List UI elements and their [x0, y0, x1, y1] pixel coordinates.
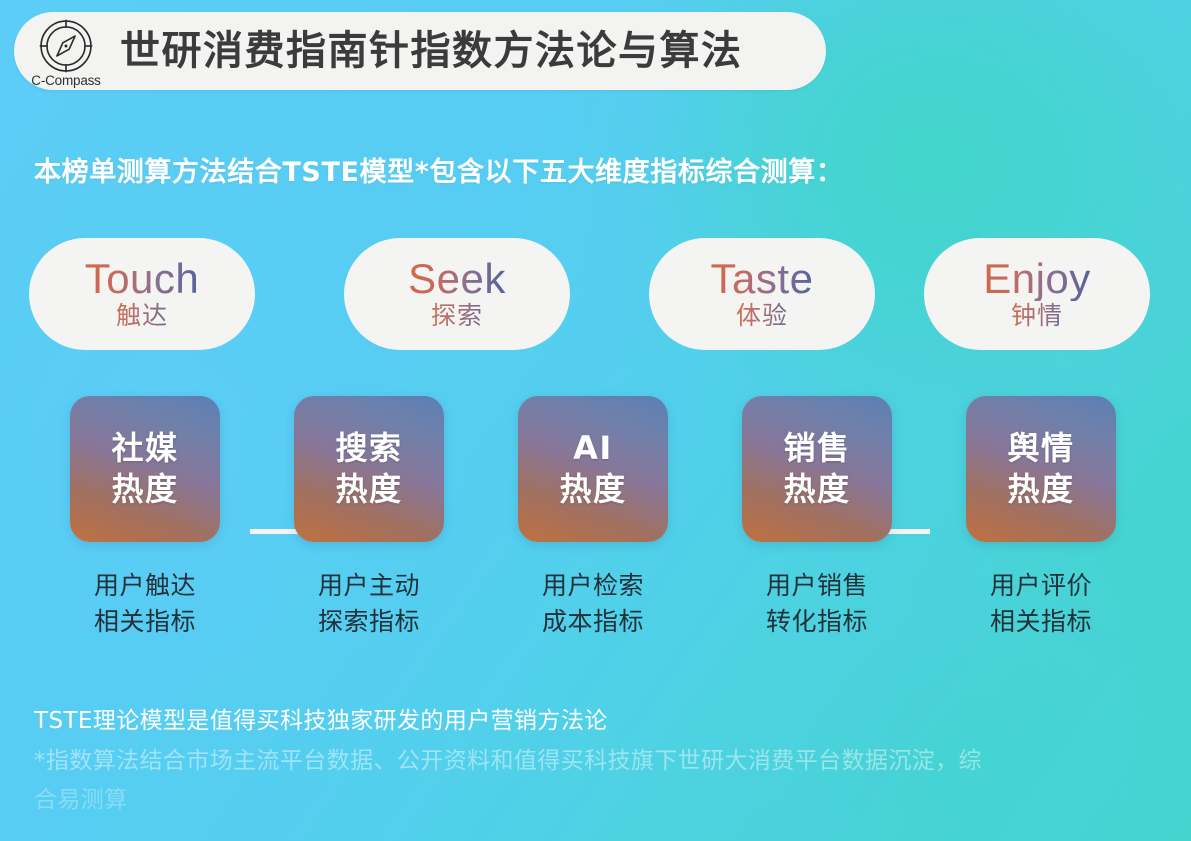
infographic-stage: C-Compass 世研消费指南针指数方法论与算法 本榜单测算方法结合TSTE模…	[0, 0, 1191, 841]
caption-line2: 转化指标	[722, 604, 912, 640]
page-title: 世研消费指南针指数方法论与算法	[120, 31, 743, 71]
caption-line1: 用户评价	[946, 568, 1136, 604]
caption-line2: 探索指标	[274, 604, 464, 640]
brand-logo-label: C-Compass	[31, 73, 100, 88]
tste-pill-en: Taste	[711, 258, 814, 301]
tste-pill-en: Enjoy	[983, 258, 1091, 301]
footnote-line-3: 合易测算	[34, 781, 1174, 821]
tste-pill-taste[interactable]: Taste 体验	[649, 238, 875, 350]
caption-line1: 用户销售	[722, 568, 912, 604]
dimension-card-search[interactable]: 搜索 热度	[294, 396, 444, 542]
intro-text: 本榜单测算方法结合TSTE模型*包含以下五大维度指标综合测算：	[34, 150, 843, 189]
dimension-card-ai[interactable]: AI 热度	[518, 396, 668, 542]
dimension-caption-ai: 用户检索 成本指标	[498, 568, 688, 639]
dimension-caption-sales: 用户销售 转化指标	[722, 568, 912, 639]
dimension-card-line2: 热度	[1007, 469, 1074, 510]
caption-line2: 相关指标	[50, 604, 240, 640]
dimension-card-line1: 销售	[783, 428, 850, 469]
dimension-caption-sentiment: 用户评价 相关指标	[946, 568, 1136, 639]
dimension-card-row: 社媒 热度 搜索 热度 AI 热度 销售 热度 舆情 热度	[0, 396, 1191, 542]
caption-line1: 用户主动	[274, 568, 464, 604]
dimension-card-line2: 热度	[335, 469, 402, 510]
caption-line2: 成本指标	[498, 604, 688, 640]
footnote-line-1: TSTE理论模型是值得买科技独家研发的用户营销方法论	[34, 702, 1174, 742]
tste-pill-en: Touch	[85, 258, 200, 301]
tste-pill-seek[interactable]: Seek 探索	[344, 238, 570, 350]
dimension-caption-social: 用户触达 相关指标	[50, 568, 240, 639]
dimension-card-sales[interactable]: 销售 热度	[742, 396, 892, 542]
footnote-line-2: *指数算法结合市场主流平台数据、公开资料和值得买科技旗下世研大消费平台数据沉淀，…	[34, 742, 1174, 782]
caption-line1: 用户触达	[50, 568, 240, 604]
compass-icon	[37, 17, 95, 75]
dimension-caption-search: 用户主动 探索指标	[274, 568, 464, 639]
tste-pill-touch[interactable]: Touch 触达	[29, 238, 255, 350]
dimension-card-line1: 搜索	[335, 428, 402, 469]
dimension-card-sentiment[interactable]: 舆情 热度	[966, 396, 1116, 542]
tste-pill-cn: 探索	[431, 302, 483, 330]
tste-pill-en: Seek	[408, 258, 506, 301]
dimension-card-line2: 热度	[783, 469, 850, 510]
dimension-card-line1: 舆情	[1007, 428, 1074, 469]
tste-pill-cn: 触达	[116, 302, 168, 330]
caption-line1: 用户检索	[498, 568, 688, 604]
tste-model-row: Touch 触达 Seek 探索 Taste 体验 Enjoy 钟情	[0, 238, 1191, 350]
brand-logo: C-Compass	[14, 12, 118, 90]
tste-pill-enjoy[interactable]: Enjoy 钟情	[924, 238, 1150, 350]
dimension-card-line2: 热度	[111, 469, 178, 510]
footnote-block: TSTE理论模型是值得买科技独家研发的用户营销方法论 *指数算法结合市场主流平台…	[34, 702, 1174, 821]
dimension-card-line1: AI	[573, 428, 613, 469]
dimension-card-line2: 热度	[559, 469, 626, 510]
tste-pill-cn: 体验	[736, 302, 788, 330]
caption-line2: 相关指标	[946, 604, 1136, 640]
header-card: C-Compass 世研消费指南针指数方法论与算法	[14, 12, 826, 90]
dimension-card-line1: 社媒	[111, 428, 178, 469]
dimension-caption-row: 用户触达 相关指标 用户主动 探索指标 用户检索 成本指标 用户销售 转化指标 …	[0, 568, 1191, 652]
dimension-card-social[interactable]: 社媒 热度	[70, 396, 220, 542]
tste-pill-cn: 钟情	[1011, 302, 1063, 330]
